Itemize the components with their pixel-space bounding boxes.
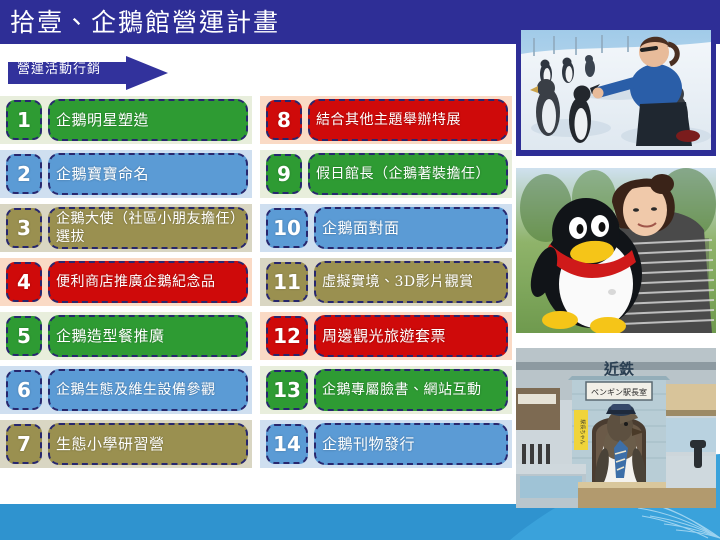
activity-number-badge: 8	[266, 100, 302, 140]
activity-label-box[interactable]: 企鵝明星塑造	[48, 99, 248, 141]
activity-label: 企鵝明星塑造	[56, 111, 149, 130]
section-banner-label: 營運活動行銷	[17, 63, 101, 76]
activity-label: 便利商店推廣企鵝紀念品	[56, 273, 216, 291]
activity-item[interactable]: 8結合其他主題舉辦特展	[260, 96, 512, 144]
activity-number: 8	[277, 110, 291, 130]
section-banner: 營運活動行銷	[8, 56, 168, 90]
activity-item[interactable]: 12周邊觀光旅遊套票	[260, 312, 512, 360]
activity-number-badge: 6	[6, 370, 42, 410]
activity-number-badge: 4	[6, 262, 42, 302]
activity-number-badge: 3	[6, 208, 42, 248]
activity-number: 1	[17, 110, 31, 130]
activity-number: 5	[17, 326, 31, 346]
activity-number: 10	[273, 218, 301, 238]
activity-label-box[interactable]: 企鵝面對面	[314, 207, 508, 249]
activity-label-box[interactable]: 企鵝刊物發行	[314, 423, 508, 465]
activity-number-badge: 1	[6, 100, 42, 140]
activity-number-badge: 5	[6, 316, 42, 356]
activity-number-badge: 14	[266, 424, 308, 464]
photo-penguin-plush-hug	[516, 168, 716, 333]
activity-label: 企鵝刊物發行	[322, 435, 415, 454]
activity-label: 企鵝寶寶命名	[56, 165, 149, 184]
activity-item[interactable]: 3企鵝大使（社區小朋友擔任）選拔	[0, 204, 252, 252]
activity-number-badge: 13	[266, 370, 308, 410]
activity-label-box[interactable]: 虛擬實境、3D影片觀賞	[314, 261, 508, 303]
activity-item[interactable]: 13企鵝專屬臉書、網站互動	[260, 366, 512, 414]
activity-number: 14	[273, 434, 301, 454]
activity-label: 企鵝大使（社區小朋友擔任）選拔	[56, 210, 240, 246]
activity-number-badge: 12	[266, 316, 308, 356]
activity-number: 4	[17, 272, 31, 292]
activity-label-box[interactable]: 企鵝寶寶命名	[48, 153, 248, 195]
activity-item[interactable]: 5企鵝造型餐推廣	[0, 312, 252, 360]
activity-number: 3	[17, 218, 31, 238]
activity-item[interactable]: 14企鵝刊物發行	[260, 420, 512, 468]
activity-label: 周邊觀光旅遊套票	[322, 327, 446, 346]
activity-label: 企鵝生態及維生設備參觀	[56, 381, 216, 399]
svg-text:駅長ちゃん: 駅長ちゃん	[579, 419, 585, 444]
activity-label: 生態小學研習營	[56, 435, 165, 454]
activity-number: 11	[273, 272, 301, 292]
activity-number: 6	[17, 380, 31, 400]
activity-label: 假日館長（企鵝著裝擔任）	[316, 165, 490, 183]
activity-label-box[interactable]: 周邊觀光旅遊套票	[314, 315, 508, 357]
activity-label-box[interactable]: 結合其他主題舉辦特展	[308, 99, 508, 141]
activity-label-box[interactable]: 生態小學研習營	[48, 423, 248, 465]
activity-label-box[interactable]: 企鵝專屬臉書、網站互動	[314, 369, 508, 411]
activity-number: 2	[17, 164, 31, 184]
activity-number-badge: 10	[266, 208, 308, 248]
activity-item[interactable]: 11虛擬實境、3D影片觀賞	[260, 258, 512, 306]
svg-text:ペンギン駅長室: ペンギン駅長室	[591, 387, 647, 397]
activity-label-box[interactable]: 假日館長（企鵝著裝擔任）	[308, 153, 508, 195]
footer-band	[0, 504, 720, 540]
photo-penguin-feeding	[516, 24, 716, 156]
activity-number: 12	[273, 326, 301, 346]
activity-item[interactable]: 9假日館長（企鵝著裝擔任）	[260, 150, 512, 198]
activity-label: 企鵝專屬臉書、網站互動	[322, 381, 482, 399]
photo-penguin-station-master: 近鉄 ペンギン駅長室 駅長ちゃん	[516, 348, 716, 508]
activity-column-right: 8結合其他主題舉辦特展9假日館長（企鵝著裝擔任）10企鵝面對面11虛擬實境、3D…	[260, 96, 512, 468]
activity-label: 虛擬實境、3D影片觀賞	[322, 273, 474, 291]
activity-column-left: 1企鵝明星塑造2企鵝寶寶命名3企鵝大使（社區小朋友擔任）選拔4便利商店推廣企鵝紀…	[0, 96, 252, 468]
activity-list: 1企鵝明星塑造2企鵝寶寶命名3企鵝大使（社區小朋友擔任）選拔4便利商店推廣企鵝紀…	[0, 96, 512, 468]
svg-text:近鉄: 近鉄	[603, 360, 634, 378]
page-title: 拾壹、企鵝館營運計畫	[0, 10, 280, 35]
activity-label-box[interactable]: 企鵝大使（社區小朋友擔任）選拔	[48, 207, 248, 249]
activity-item[interactable]: 1企鵝明星塑造	[0, 96, 252, 144]
activity-label: 企鵝面對面	[322, 219, 400, 238]
activity-number-badge: 7	[6, 424, 42, 464]
activity-label-box[interactable]: 企鵝造型餐推廣	[48, 315, 248, 357]
activity-item[interactable]: 10企鵝面對面	[260, 204, 512, 252]
activity-label: 企鵝造型餐推廣	[56, 327, 165, 346]
activity-number: 7	[17, 434, 31, 454]
activity-label-box[interactable]: 企鵝生態及維生設備參觀	[48, 369, 248, 411]
activity-item[interactable]: 7生態小學研習營	[0, 420, 252, 468]
activity-item[interactable]: 4便利商店推廣企鵝紀念品	[0, 258, 252, 306]
activity-item[interactable]: 2企鵝寶寶命名	[0, 150, 252, 198]
activity-label-box[interactable]: 便利商店推廣企鵝紀念品	[48, 261, 248, 303]
activity-item[interactable]: 6企鵝生態及維生設備參觀	[0, 366, 252, 414]
activity-number-badge: 2	[6, 154, 42, 194]
activity-label: 結合其他主題舉辦特展	[316, 111, 461, 129]
activity-number: 9	[277, 164, 291, 184]
activity-number-badge: 9	[266, 154, 302, 194]
slide: 拾壹、企鵝館營運計畫 營運活動行銷 1企鵝明星塑造2企鵝寶寶命名3企鵝大使（社區…	[0, 0, 720, 540]
activity-number: 13	[273, 380, 301, 400]
activity-number-badge: 11	[266, 262, 308, 302]
